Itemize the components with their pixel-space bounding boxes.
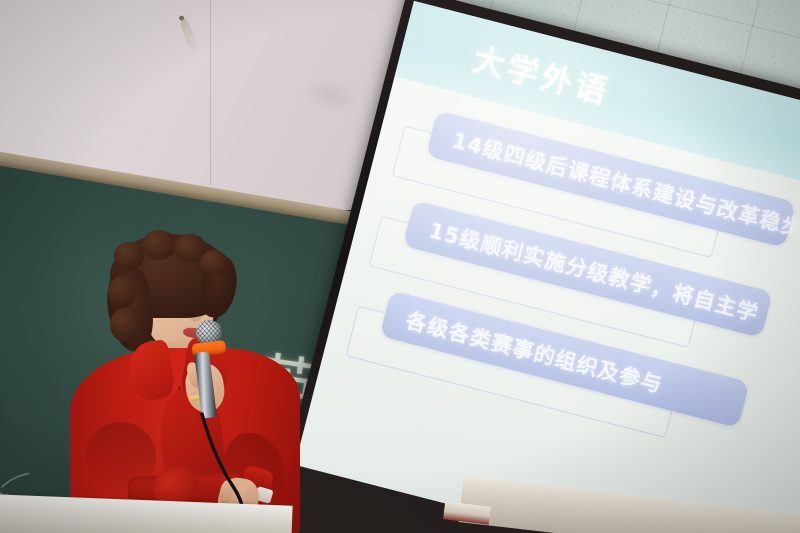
hair-curl — [108, 276, 136, 308]
lecture-hall-scene: 英语 大学外语 — [0, 0, 800, 533]
wall-seam — [210, 0, 211, 185]
hair-curl — [142, 230, 176, 260]
hair-curl — [200, 250, 228, 276]
hair-curl — [114, 242, 144, 270]
speaker-figure — [70, 236, 300, 533]
wall-smudge — [297, 72, 363, 118]
hair-curl — [110, 308, 140, 342]
wall-scuff-mark — [179, 18, 200, 57]
